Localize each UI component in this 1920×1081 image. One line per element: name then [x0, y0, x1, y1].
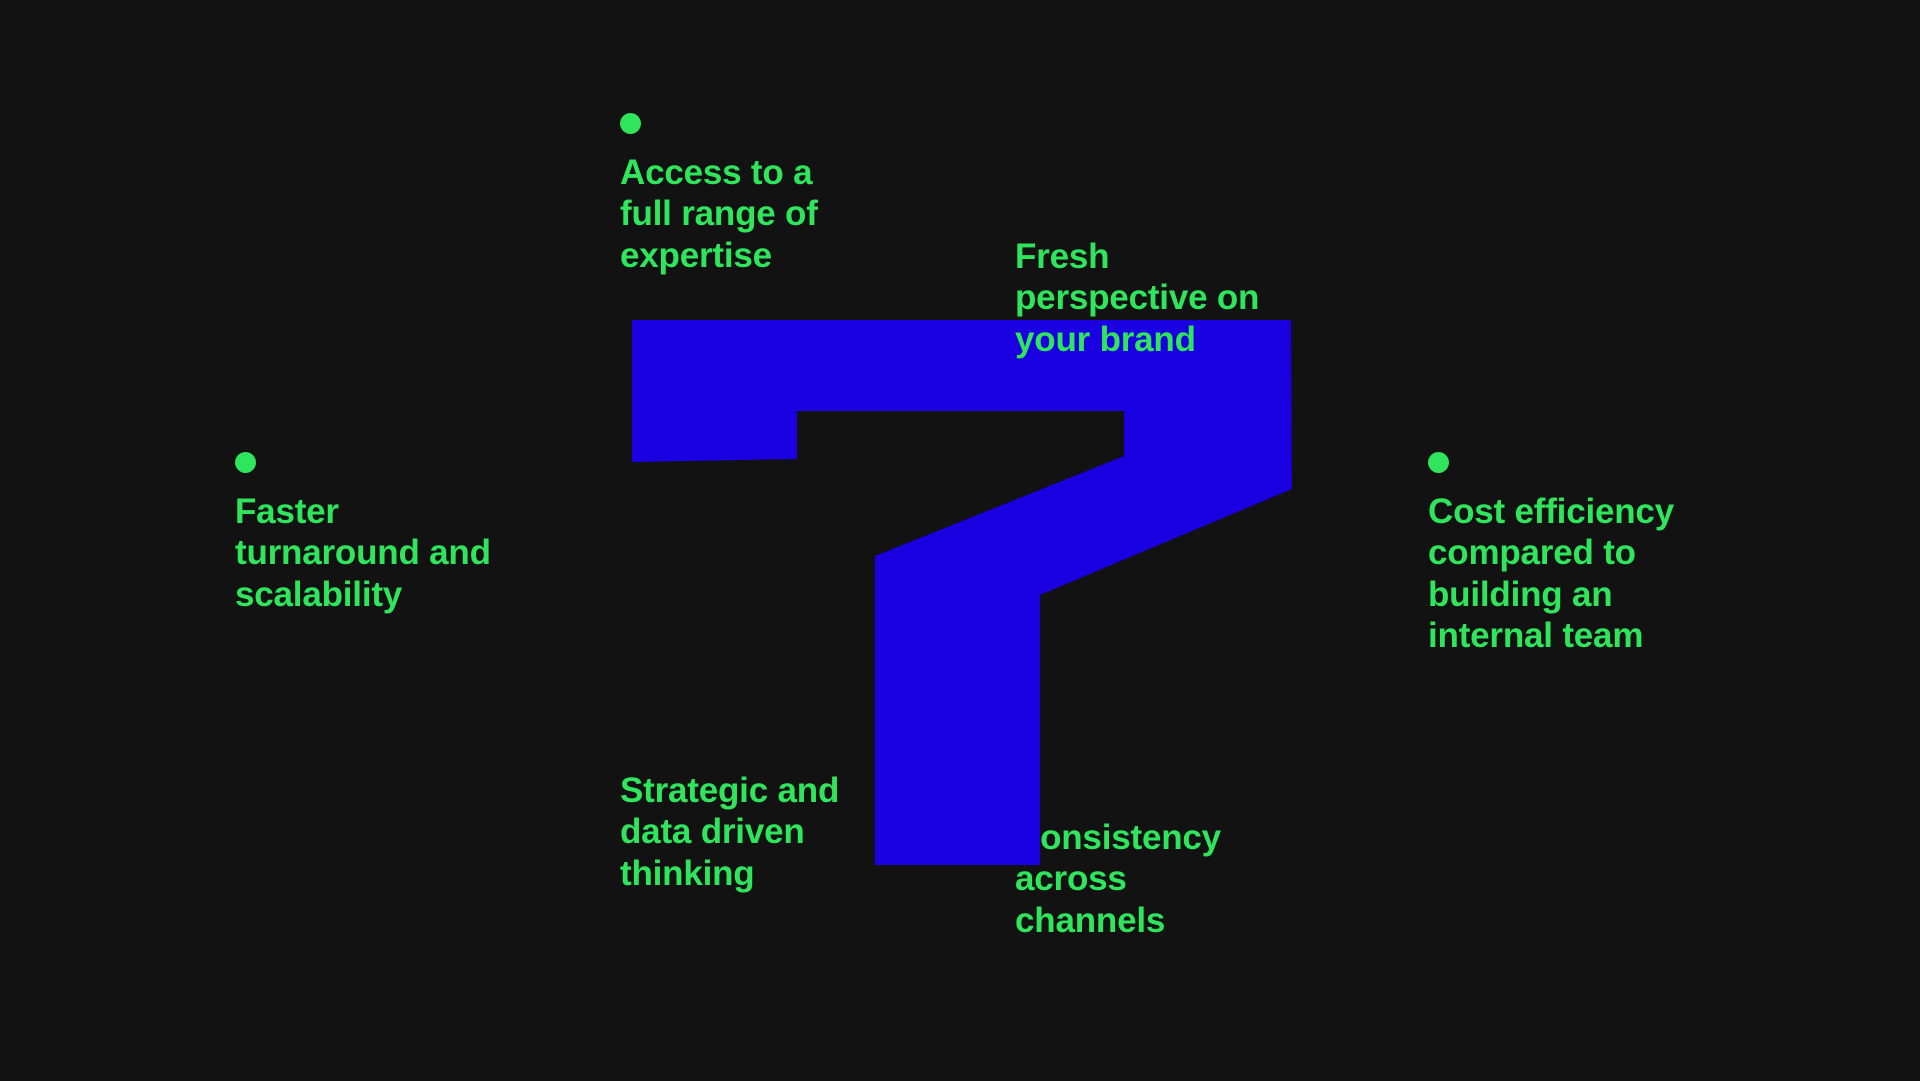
callout-faster: Faster turnaround and scalability — [235, 452, 565, 615]
callout-cost-label: Cost efficiency compared to building an … — [1428, 491, 1758, 656]
callout-fresh-label: Fresh perspective on your brand — [1015, 236, 1335, 360]
seven-arrow-polygon — [632, 320, 1292, 865]
callout-cost: Cost efficiency compared to building an … — [1428, 452, 1758, 656]
callout-fresh: Fresh perspective on your brand — [1015, 236, 1335, 360]
bullet-dot-icon — [235, 452, 256, 473]
diagram-canvas: Consistency across channels Strategic an… — [0, 0, 1920, 1081]
bullet-dot-icon — [1428, 452, 1449, 473]
callout-access-label: Access to a full range of expertise — [620, 152, 920, 276]
callout-access: Access to a full range of expertise — [620, 113, 920, 276]
bullet-dot-icon — [620, 113, 641, 134]
callout-faster-label: Faster turnaround and scalability — [235, 491, 565, 615]
